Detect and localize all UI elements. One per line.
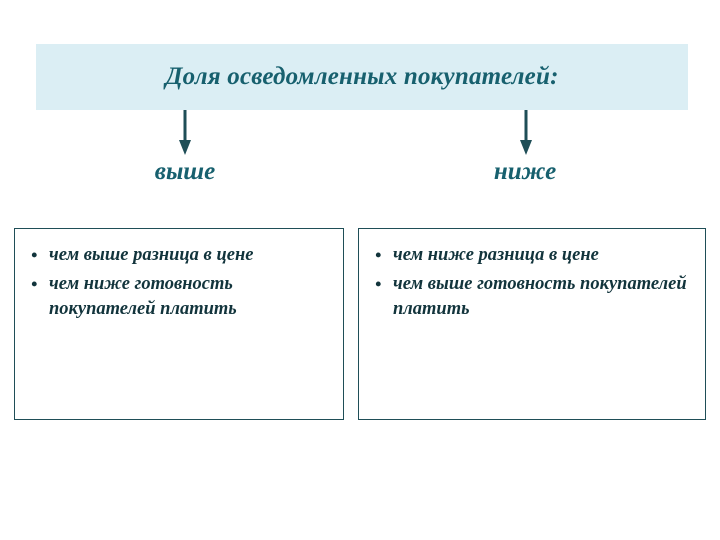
list-item: • чем ниже готовность покупателей платит… bbox=[25, 272, 335, 322]
page-title: Доля осведомленных покупателей: bbox=[165, 63, 558, 91]
panel-right: • чем ниже разница в цене • чем выше гот… bbox=[358, 228, 706, 420]
arrow-down-left-icon bbox=[178, 110, 192, 161]
bullet-list-left: • чем выше разница в цене • чем ниже гот… bbox=[15, 229, 343, 322]
panel-left: • чем выше разница в цене • чем ниже гот… bbox=[14, 228, 344, 420]
bullet-icon: • bbox=[31, 243, 37, 268]
arrow-down-right-icon bbox=[519, 110, 533, 161]
title-box: Доля осведомленных покупателей: bbox=[36, 44, 688, 110]
list-item-text: чем ниже готовность покупателей платить bbox=[49, 274, 237, 319]
column-label-left: выше bbox=[90, 158, 280, 186]
bullet-list-right: • чем ниже разница в цене • чем выше гот… bbox=[359, 229, 705, 322]
bullet-icon: • bbox=[31, 272, 37, 297]
list-item-text: чем ниже разница в цене bbox=[393, 245, 599, 265]
list-item: • чем выше разница в цене bbox=[25, 243, 335, 268]
list-item: • чем выше готовность покупателей платит… bbox=[369, 272, 697, 322]
slide-canvas: Доля осведомленных покупателей: выше ниж… bbox=[0, 0, 720, 540]
bullet-icon: • bbox=[375, 272, 381, 297]
column-label-right: ниже bbox=[430, 158, 620, 186]
list-item-text: чем выше готовность покупателей платить bbox=[393, 274, 687, 319]
bullet-icon: • bbox=[375, 243, 381, 268]
list-item-text: чем выше разница в цене bbox=[49, 245, 253, 265]
list-item: • чем ниже разница в цене bbox=[369, 243, 697, 268]
